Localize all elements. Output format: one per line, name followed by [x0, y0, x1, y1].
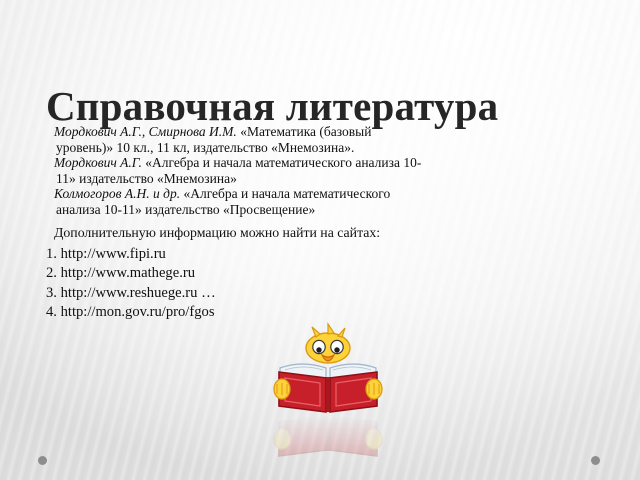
decorative-dot-right	[591, 456, 600, 465]
reference-item-cont: анализа 10-11» издательство «Просвещение…	[48, 202, 568, 218]
reference-authors: Мордкович А.Г.	[54, 155, 142, 170]
reference-item: Мордкович А.Г. «Алгебра и начала математ…	[48, 155, 568, 171]
link-item-4[interactable]: 4. http://mon.gov.ru/pro/fgos	[46, 303, 568, 323]
reference-title: «Математика (базовый	[240, 124, 371, 139]
illustration-reflection	[272, 414, 384, 460]
reference-authors: Мордкович А.Г., Смирнова И.М.	[54, 124, 237, 139]
book-cover	[279, 372, 377, 412]
reference-title: «Алгебра и начала математического	[183, 186, 390, 201]
reference-authors: Колмогоров А.Н. и др.	[54, 186, 180, 201]
decorative-dot-left	[38, 456, 47, 465]
reference-item: Колмогоров А.Н. и др. «Алгебра и начала …	[48, 186, 568, 202]
chick-reading-book-illustration	[272, 322, 384, 418]
chick-head	[306, 324, 350, 363]
reference-title: «Алгебра и начала математического анализ…	[145, 155, 421, 170]
link-item-2[interactable]: 2. http://www.mathege.ru	[46, 264, 568, 284]
link-item-1[interactable]: 1. http://www.fipi.ru	[46, 245, 568, 265]
reference-item: Мордкович А.Г., Смирнова И.М. «Математик…	[48, 124, 568, 140]
additional-info-note: Дополнительную информацию можно найти на…	[54, 225, 568, 241]
reference-item-cont: 11» издательство «Мнемозина»	[48, 171, 568, 187]
content-body: Мордкович А.Г., Смирнова И.М. «Математик…	[48, 124, 568, 323]
reference-item-cont: уровень)» 10 кл., 11 кл, издательство «М…	[48, 140, 568, 156]
link-item-3[interactable]: 3. http://www.reshuege.ru …	[46, 284, 568, 304]
slide-canvas: Справочная литература Мордкович А.Г., См…	[0, 0, 640, 480]
